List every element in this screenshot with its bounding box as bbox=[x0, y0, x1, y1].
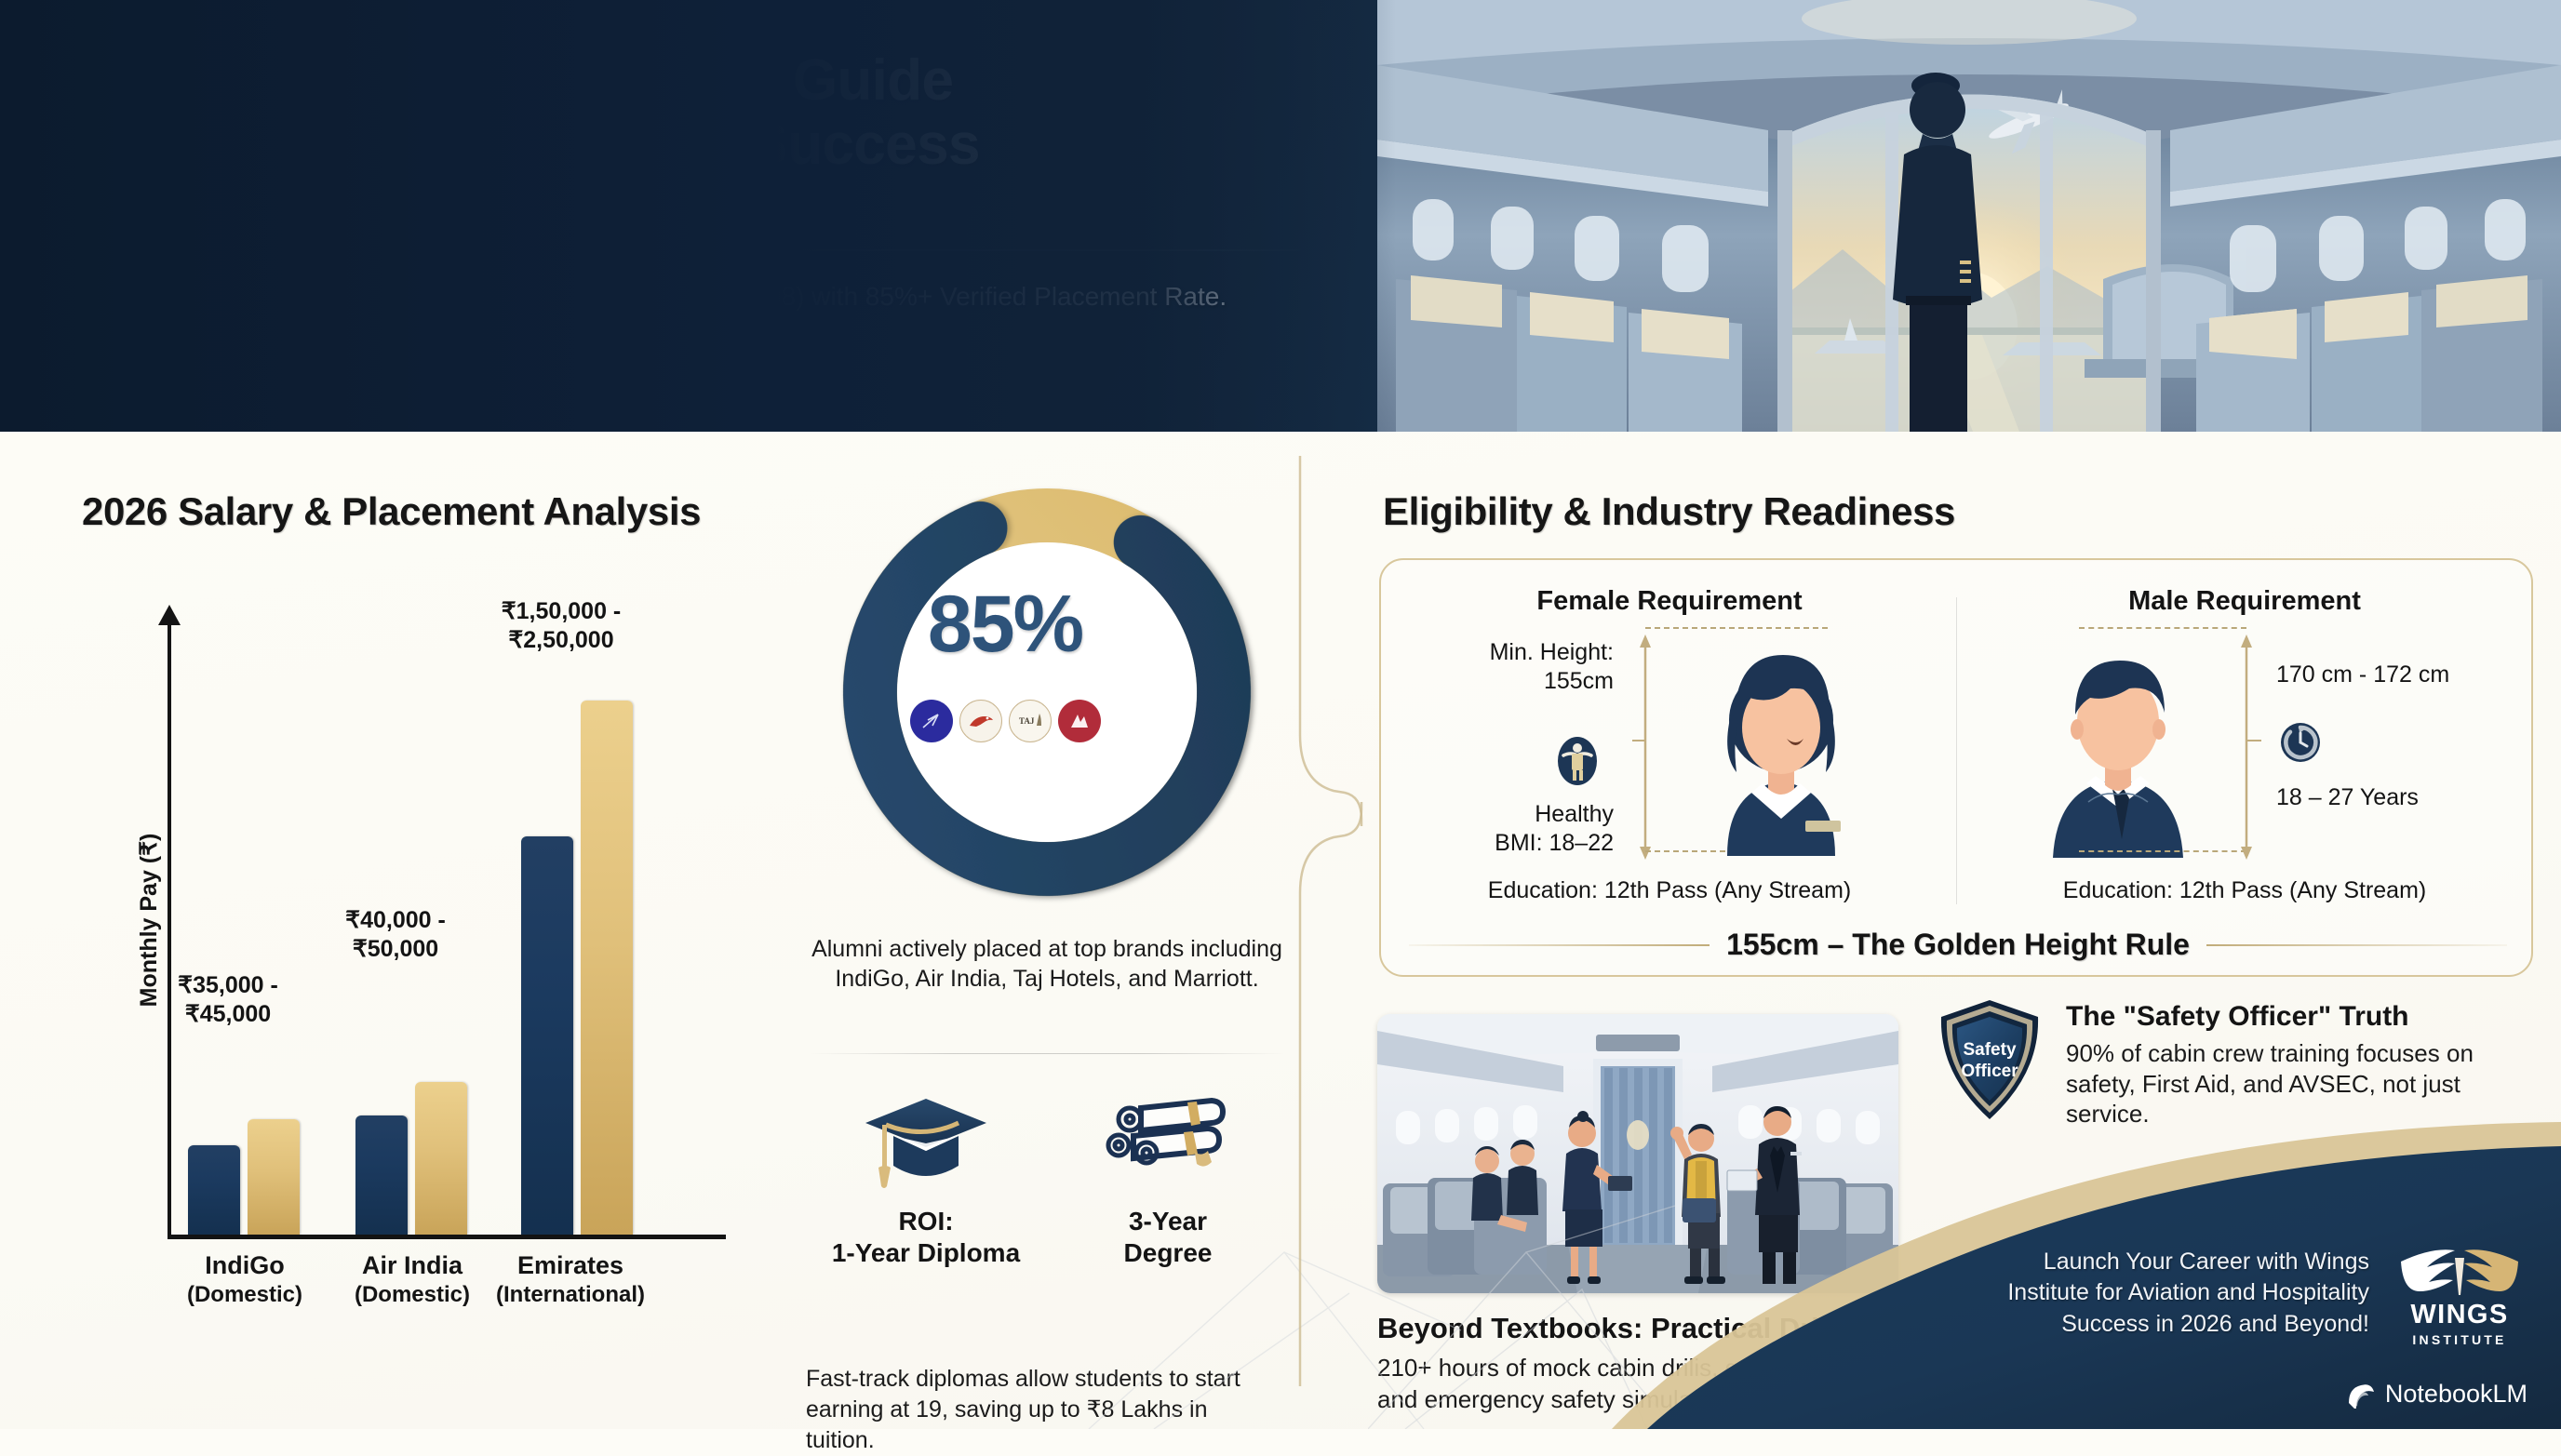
bar-value-label-indigo: ₹35,000 - ₹45,000 bbox=[130, 971, 326, 1028]
safety-officer-block: Safety Officer The "Safety Officer" Trut… bbox=[1934, 997, 2548, 1129]
brand-logo-row: TAJ bbox=[782, 700, 1228, 742]
cabin-sunset-illustration bbox=[1377, 0, 2561, 432]
footer-cta-text: Launch Your Career with Wings Institute … bbox=[1969, 1247, 2369, 1341]
healthy-bmi-icon bbox=[1556, 735, 1599, 792]
bar-airindia-max bbox=[415, 1082, 467, 1235]
safety-officer-text: The "Safety Officer" Truth 90% of cabin … bbox=[2066, 997, 2548, 1129]
male-age-label: 18 – 27 Years bbox=[2276, 783, 2419, 812]
safety-badge-line1: Safety bbox=[1963, 1040, 2016, 1060]
bar-value-label-emirates: ₹1,50,000 - ₹2,50,000 bbox=[463, 597, 659, 654]
section-title-eligibility: Eligibility & Industry Readiness bbox=[1383, 489, 1955, 534]
female-requirement-heading: Female Requirement bbox=[1383, 586, 1956, 617]
golden-rule-line-left bbox=[1409, 944, 1710, 946]
male-height-label: 170 cm - 172 cm bbox=[2276, 661, 2449, 689]
eligibility-card: Female Requirement Min. Height: 155cm He… bbox=[1379, 558, 2533, 977]
male-requirement-panel: Male Requirement bbox=[1958, 560, 2531, 932]
male-bottom-dashed-guide bbox=[2079, 850, 2246, 852]
bar-indigo-min bbox=[188, 1145, 240, 1235]
section-title-salary: 2026 Salary & Placement Analysis bbox=[82, 489, 701, 534]
female-requirement-panel: Female Requirement Min. Height: 155cm He… bbox=[1383, 560, 1956, 932]
y-axis-line bbox=[168, 622, 171, 1236]
x-axis-line bbox=[168, 1235, 726, 1239]
bar-value-label-airindia: ₹40,000 - ₹50,000 bbox=[298, 906, 493, 963]
female-education-label: Education: 12th Pass (Any Stream) bbox=[1383, 877, 1956, 904]
svg-text:TAJ: TAJ bbox=[1019, 716, 1035, 726]
male-cabin-crew-avatar bbox=[2016, 625, 2220, 862]
wings-institute-logo: WINGS INSTITUTE bbox=[2390, 1239, 2529, 1347]
male-height-measure-arrow bbox=[2233, 631, 2271, 868]
golden-height-rule-row: 155cm – The Golden Height Rule bbox=[1409, 928, 2507, 962]
bar-group-emirates bbox=[521, 701, 633, 1235]
header-gold-edge bbox=[0, 426, 2561, 432]
indigo-logo-icon bbox=[910, 700, 953, 742]
wings-brand-sub: INSTITUTE bbox=[2390, 1332, 2529, 1347]
notebooklm-label: NotebookLM bbox=[2385, 1380, 2527, 1409]
female-height-measure-arrow bbox=[1632, 631, 1669, 868]
donut-caption: Alumni actively placed at top brands inc… bbox=[800, 934, 1294, 994]
age-clock-icon bbox=[2278, 720, 2323, 769]
mid-divider bbox=[810, 1053, 1284, 1054]
safety-officer-title: The "Safety Officer" Truth bbox=[2066, 1001, 2548, 1034]
footer-cta-block: Launch Your Career with Wings Institute … bbox=[1969, 1239, 2529, 1347]
safety-badge-line2: Officer bbox=[1961, 1062, 2018, 1081]
marriott-logo-icon bbox=[1058, 700, 1101, 742]
section-brace-divider bbox=[1280, 456, 1391, 1386]
panel-separator bbox=[1956, 597, 1957, 904]
notebooklm-icon bbox=[2345, 1381, 2375, 1409]
bar-indigo-max bbox=[248, 1119, 300, 1235]
salary-bar-chart: Monthly Pay (₹) ₹35,000 - ₹45,000 IndiGo… bbox=[74, 571, 726, 1362]
header-text-panel bbox=[0, 0, 1396, 432]
safety-officer-badge-icon: Safety Officer bbox=[1934, 997, 2045, 1129]
bar-airindia-min bbox=[355, 1115, 408, 1235]
taj-hotels-logo-icon: TAJ bbox=[1009, 700, 1052, 742]
bar-emirates-max bbox=[581, 701, 633, 1235]
category-label-emirates: Emirates (International) bbox=[463, 1250, 677, 1309]
male-education-label: Education: 12th Pass (Any Stream) bbox=[1958, 877, 2531, 904]
golden-height-rule-text: 155cm – The Golden Height Rule bbox=[1726, 928, 2190, 962]
roi-label-diploma: ROI: 1-Year Diploma bbox=[805, 1206, 1047, 1268]
roi-item-diploma: ROI: 1-Year Diploma bbox=[805, 1083, 1047, 1268]
header-banner: Career Takeoff 2026: Your Guide to Aviat… bbox=[0, 0, 2561, 432]
bar-group-airindia bbox=[355, 1082, 467, 1235]
bar-emirates-min bbox=[521, 836, 573, 1235]
donut-center-value: 85% bbox=[782, 579, 1228, 671]
golden-rule-line-right bbox=[2206, 944, 2507, 946]
safety-officer-body: 90% of cabin crew training focuses on sa… bbox=[2066, 1038, 2548, 1129]
female-cabin-crew-avatar bbox=[1679, 623, 1884, 861]
air-india-logo-icon bbox=[959, 700, 1002, 742]
female-height-label: Min. Height: 155cm bbox=[1400, 638, 1614, 695]
bar-group-indigo bbox=[188, 1119, 300, 1235]
female-bmi-label: Healthy BMI: 18–22 bbox=[1400, 800, 1614, 857]
wings-brand-name: WINGS bbox=[2390, 1302, 2529, 1329]
placement-donut-chart bbox=[824, 469, 1270, 915]
male-top-dashed-guide bbox=[2079, 627, 2246, 629]
notebooklm-attribution: NotebookLM bbox=[2345, 1380, 2527, 1409]
graduation-cap-icon bbox=[805, 1083, 1047, 1202]
wings-bird-icon bbox=[2393, 1239, 2526, 1297]
male-requirement-heading: Male Requirement bbox=[1958, 586, 2531, 617]
